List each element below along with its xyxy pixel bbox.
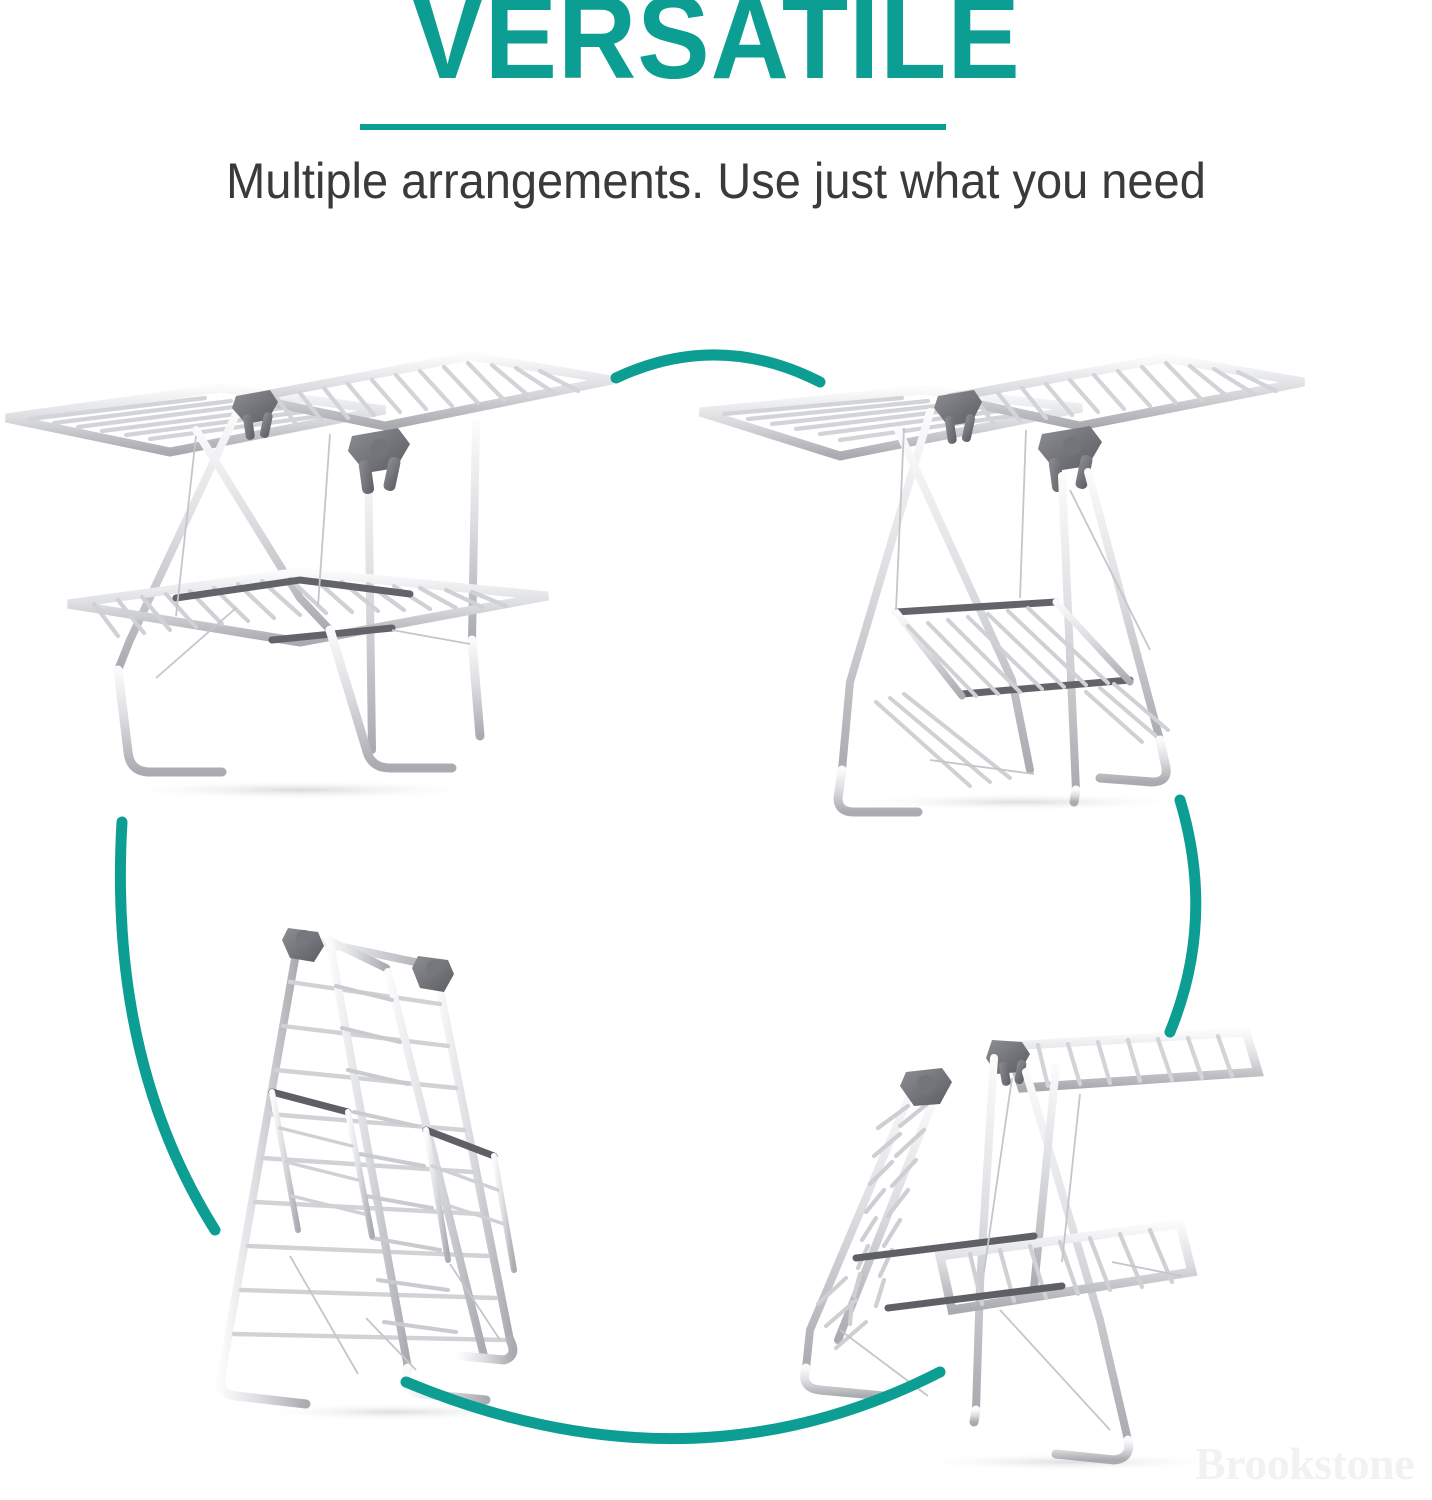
product-configuration-gallery: [0, 0, 1432, 1500]
product-image-config-fully-open: [0, 340, 620, 800]
product-image-config-shelf-folded: [690, 350, 1310, 820]
product-image-config-fully-folded: [180, 900, 600, 1430]
brand-watermark: Brookstone: [1195, 1438, 1414, 1490]
product-image-config-one-wing: [780, 1010, 1300, 1480]
